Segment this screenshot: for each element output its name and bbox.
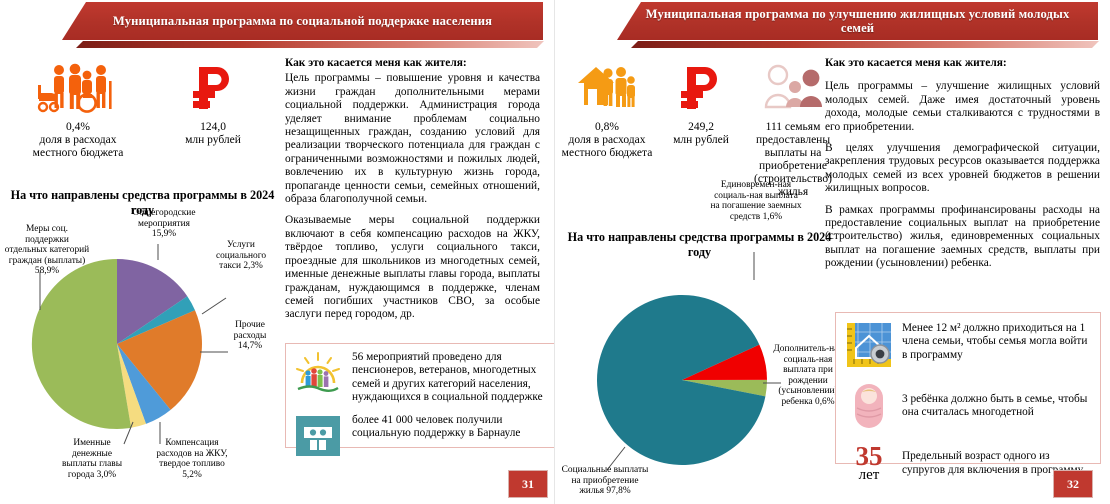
kpi-budget-share: 0,8% доля в расходах местного бюджета [559,62,655,160]
page-title: Муниципальная программа по социальной по… [91,14,514,29]
kpi-value: 0,4% [66,121,90,134]
pie-label-2: Социальные выплаты на приобретение жилья… [559,465,651,497]
kpi-funding-amount: 249,2 млн рублей [658,62,744,147]
slide-social-support: Муниципальная программа по социальной по… [0,0,555,504]
fact-text: более 41 000 человек получили социальную… [352,414,546,441]
age-35-icon: 35 лет [846,444,892,483]
fact-text: 56 мероприятий проведено для пенсионеров… [352,351,546,405]
pie-chart-housing: Единовремен-ная социаль-ная выплата на п… [559,252,844,497]
kpi-value: 124,0 [200,121,226,134]
kpi-caption: доля в расходах местного бюджета [559,134,655,160]
pie-chart-social-support: Меры соц. поддержки отдельных категорий … [0,232,280,472]
kpi-value: 0,8% [595,121,619,134]
sunrise-people-icon [294,351,342,395]
pie-label-0: Меры соц. поддержки отдельных категорий … [4,224,90,277]
kpi-caption: доля в расходах местного бюджета [18,134,138,160]
slide-young-family-housing: Муниципальная программа по улучшению жил… [555,0,1110,504]
criteria-text: Менее 12 м² должно приходиться на 1 член… [902,322,1090,362]
ruble-icon [191,62,235,114]
body-heading: Как это касается меня как жителя: [285,57,540,70]
pie-label-0: Единовремен-ная социаль-ная выплата на п… [710,180,802,222]
kpi-funding-amount: 124,0 млн рублей [158,62,268,147]
criteria-item: Менее 12 м² должно приходиться на 1 член… [846,322,1090,368]
criteria-text: 3 ребёнка должно быть в семье, чтобы она… [902,393,1090,420]
house-family-icon [574,62,640,114]
body-paragraph-2: В целях улучшения демографической ситуац… [825,142,1100,196]
header-banner-left: Муниципальная программа по социальной по… [0,0,555,52]
criteria-item: 3 ребёнка должно быть в семье, чтобы она… [846,382,1090,430]
criteria-box-right: Менее 12 м² должно приходиться на 1 член… [835,312,1101,464]
page-number-right: 32 [1053,470,1093,498]
pie-label-4: Компенсация расходов на ЖКУ, твердое топ… [150,438,234,480]
header-banner-right: Муниципальная программа по улучшению жил… [555,0,1110,52]
kpi-caption: млн рублей [185,134,241,147]
kpi-row-left: 0,4% доля в расходах местного бюджета 12… [8,62,278,160]
family-support-icon [35,62,121,114]
age-unit: лет [859,468,880,483]
age-number: 35 [856,444,883,468]
slide-divider [554,0,555,504]
banner-shape: Муниципальная программа по улучшению жил… [617,2,1098,40]
pie-label-3: Прочие расходы 14,7% [222,320,278,352]
baby-icon [846,382,892,430]
body-paragraph-1: Цель программы – улучшение жилищных усло… [825,80,1100,134]
kpi-value: 111 семьям [766,121,821,134]
page-number-left: 31 [508,470,548,498]
young-family-icon [763,62,823,114]
body-text-right: Как это касается меня как жителя: Цель п… [825,57,1100,279]
body-paragraph-3: В рамках программы профинансированы расх… [825,204,1100,271]
fact-box-left: 56 мероприятий проведено для пенсионеров… [285,343,555,448]
pie-label-1: Дополнитель-ная социаль-ная выплата при … [773,344,843,408]
banner-accent-bar [631,41,1099,48]
fact-item: 56 мероприятий проведено для пенсионеров… [294,351,546,405]
body-text-left: Как это касается меня как жителя: Цель п… [285,57,540,330]
kpi-caption: млн рублей [673,134,729,147]
kpi-value: 249,2 [688,121,714,134]
body-paragraph-2: Оказываемые меры социальной поддержки вк… [285,214,540,321]
kpi-row-right: 0,8% доля в расходах местного бюджета 24… [559,62,839,199]
body-paragraph-1: Цель программы – повышение уровня и каче… [285,72,540,206]
blueprint-ruler-icon [846,322,892,368]
kpi-budget-share: 0,4% доля в расходах местного бюджета [18,62,138,160]
banner-accent-bar [76,41,544,48]
pie-label-2: Услуги социального такси 2,3% [204,240,278,272]
pie-label-5: Именные денежные выплаты главы города 3,… [56,438,128,480]
social-card-icon [294,414,342,458]
ruble-icon [679,62,723,114]
pie-label-1: Общегородские мероприятия 15,9% [128,208,200,240]
page-title: Муниципальная программа по улучшению жил… [617,7,1098,36]
banner-shape: Муниципальная программа по социальной по… [62,2,543,40]
body-heading: Как это касается меня как жителя: [825,57,1100,70]
fact-item: более 41 000 человек получили социальную… [294,414,546,458]
